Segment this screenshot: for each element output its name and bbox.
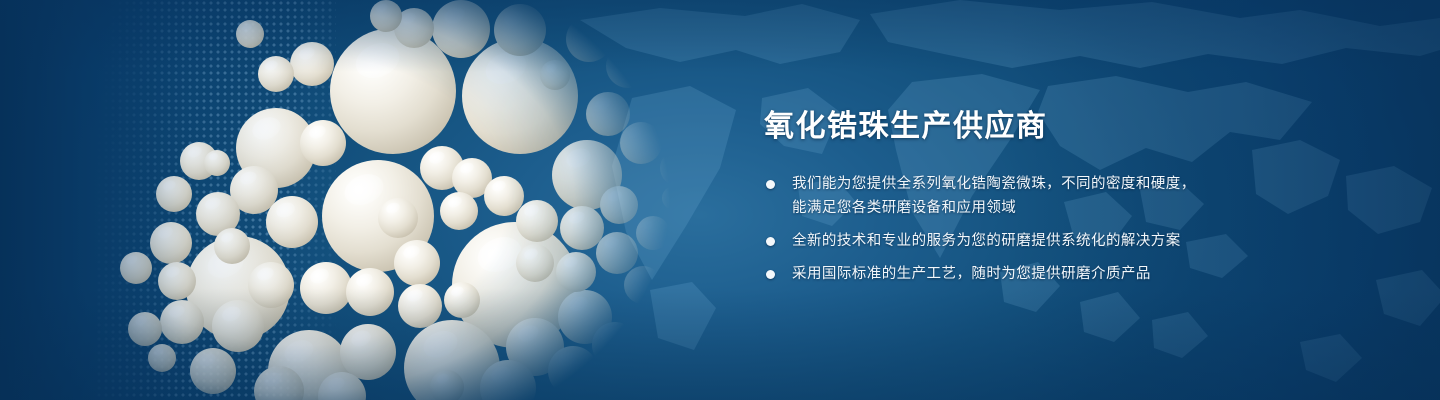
list-item: 采用国际标准的生产工艺，随时为您提供研磨介质产品 [764, 262, 1364, 286]
list-item-line: 能满足您各类研磨设备和应用领域 [792, 196, 1364, 220]
bullet-dot-icon [766, 237, 775, 246]
list-item-line: 采用国际标准的生产工艺，随时为您提供研磨介质产品 [792, 262, 1364, 286]
banner-feature-list: 我们能为您提供全系列氧化锆陶瓷微珠，不同的密度和硬度， 能满足您各类研磨设备和应… [764, 172, 1364, 286]
list-item: 全新的技术和专业的服务为您的研磨提供系统化的解决方案 [764, 229, 1364, 253]
list-item-line: 我们能为您提供全系列氧化锆陶瓷微珠，不同的密度和硬度， [792, 172, 1364, 196]
banner-title: 氧化锆珠生产供应商 [764, 108, 1364, 146]
bullet-dot-icon [766, 270, 775, 279]
banner-content: 氧化锆珠生产供应商 我们能为您提供全系列氧化锆陶瓷微珠，不同的密度和硬度， 能满… [764, 108, 1364, 286]
list-item: 我们能为您提供全系列氧化锆陶瓷微珠，不同的密度和硬度， 能满足您各类研磨设备和应… [764, 172, 1364, 220]
bullet-dot-icon [766, 180, 775, 189]
list-item-line: 全新的技术和专业的服务为您的研磨提供系统化的解决方案 [792, 229, 1364, 253]
hero-banner: 氧化锆珠生产供应商 我们能为您提供全系列氧化锆陶瓷微珠，不同的密度和硬度， 能满… [0, 0, 1440, 400]
